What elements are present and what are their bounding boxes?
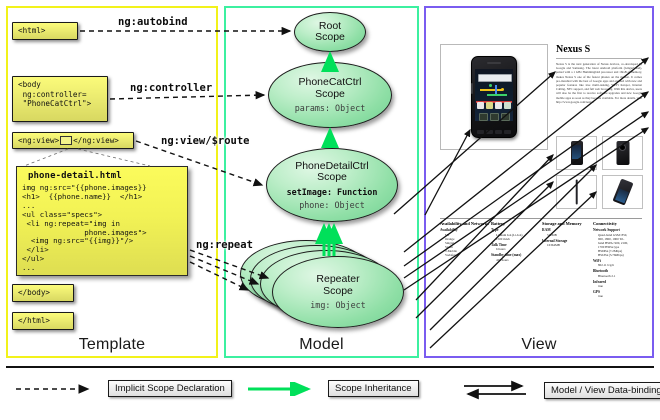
spec-value-wifi: 802.11 b/g/n — [598, 263, 642, 267]
spec-column-availability: Availability and Networks Availability M… — [440, 221, 489, 307]
hero-phone-image — [440, 44, 548, 150]
view-rendered-page: Nexus S Nexus S is the next generation o… — [434, 16, 646, 334]
tag-body-open-text: <body ng:controller= "PhoneCatCtrl"> — [18, 80, 91, 108]
tag-html-open: <html> — [12, 22, 78, 40]
scope-repeater-title-1: Repeater — [316, 274, 359, 286]
view-title-rule — [556, 58, 642, 59]
legend-green-arrow-icon — [246, 382, 320, 396]
note-code: img ng:src="{{phone.images}} <h1> {{phon… — [22, 184, 183, 273]
phone-app-icon-4 — [504, 102, 511, 109]
legend-divider — [6, 366, 654, 368]
diagram-canvas: <html> <body ng:controller= "PhoneCatCtr… — [0, 0, 660, 420]
spec-heading-availability: Availability and Networks — [440, 221, 489, 226]
phone-nav-button-1 — [477, 130, 484, 134]
ngview-slot-icon — [60, 136, 72, 145]
legend-item-implicit: Implicit Scope Declaration — [14, 380, 232, 397]
thumbnail-front-image — [571, 141, 583, 165]
label-ng-controller: ng:controller — [130, 82, 212, 94]
tag-body-open: <body ng:controller= "PhoneCatCtrl"> — [12, 76, 108, 122]
spec-value-bluetooth: Bluetooth 2.1 — [598, 274, 642, 278]
label-ng-autobind: ng:autobind — [118, 16, 188, 28]
label-ng-repeat: ng:repeat — [196, 239, 253, 251]
thumbnail-front[interactable] — [556, 136, 597, 170]
scope-repeater: Repeater Scope img: Object — [272, 256, 404, 328]
phone-app-icon-2 — [486, 102, 493, 109]
phone-dock-item-2 — [490, 113, 499, 121]
view-spec-table: Availability and Networks Availability M… — [440, 218, 642, 307]
spec-value-network-6: HSUPA (5.76Mbps) — [598, 253, 642, 257]
tag-html-close-text: </html> — [18, 316, 50, 326]
spec-value-ram: 512MB — [547, 233, 591, 237]
thumbnail-back[interactable] — [602, 136, 643, 170]
spec-value-gps: true — [598, 294, 642, 298]
phone-app-icon-3 — [495, 102, 502, 109]
spec-heading-battery: Battery — [491, 221, 540, 226]
scope-repeater-prop-img: img: Object — [310, 300, 365, 310]
spec-heading-connectivity: Connectivity — [593, 221, 642, 226]
phone-app-icon-1 — [477, 102, 484, 109]
note-phone-detail-html: phone-detail.html img ng:src="{{phone.im… — [16, 166, 188, 276]
spec-value-battery-talktime: 6 hours — [496, 247, 540, 251]
view-product-description: Nexus S is the next generation of Nexus … — [556, 62, 642, 132]
scope-phonedetailctrl-title-2: Scope — [317, 172, 347, 184]
thumbnail-angled-image — [612, 178, 633, 205]
scope-phonecatctrl-title-2: Scope — [315, 89, 345, 101]
thumbnail-back-image — [616, 141, 629, 165]
view-thumbnail-grid — [556, 136, 644, 208]
thumbnail-edge[interactable] — [556, 175, 597, 209]
spec-column-battery: Battery Type Lithium Ion (Li-Ion) 1500 m… — [491, 221, 540, 307]
phone-screen-line-2 — [495, 85, 497, 94]
scope-repeater-title-2: Scope — [323, 286, 353, 298]
phone-dock — [477, 113, 511, 120]
label-ng-view-route: ng:view/$route — [161, 135, 250, 147]
scope-phonecatctrl-title-1: PhoneCatCtrl — [298, 77, 361, 89]
legend-label-databinding: Model / View Data-binding — [544, 382, 660, 399]
phone-side-button — [471, 83, 473, 94]
tag-html-open-text: <html> — [18, 26, 45, 36]
legend-item-databinding: Model / View Data-binding — [462, 380, 660, 400]
scope-phonedetailctrl-prop-phone: phone: Object — [299, 200, 365, 210]
phone-nav-button-4 — [504, 130, 511, 134]
thumbnail-angled[interactable] — [602, 175, 643, 209]
legend-double-arrow-icon — [462, 380, 536, 400]
scope-root-title-2: Scope — [315, 32, 345, 44]
tag-html-close: </html> — [12, 312, 74, 330]
tag-body-close-text: </body> — [18, 288, 50, 298]
view-product-title: Nexus S — [556, 44, 642, 55]
phone-nav-button-3 — [495, 130, 502, 134]
scope-phonecatctrl: PhoneCatCtrl Scope params: Object — [268, 62, 392, 128]
spec-column-storage: Storage and Memory RAM 512MB Internal St… — [542, 221, 591, 307]
phone-screen-line-3 — [487, 94, 507, 96]
scope-root: Root Scope — [294, 12, 366, 52]
scope-phonedetailctrl-prop-setimage: setImage: Function — [287, 187, 378, 197]
tag-ngview-open-text: <ng:view> — [18, 136, 59, 146]
scope-phonedetailctrl: PhoneDetailCtrl Scope setImage: Function… — [266, 148, 398, 222]
legend-label-implicit: Implicit Scope Declaration — [108, 380, 232, 397]
spec-heading-storage: Storage and Memory — [542, 221, 591, 226]
spec-value-battery-type-2: 1500 mAh — [496, 237, 540, 241]
phone-illustration — [471, 56, 517, 138]
phone-earpiece — [487, 62, 501, 64]
legend-label-inheritance: Scope Inheritance — [328, 380, 419, 397]
spec-value-internal-storage: 16364MB — [547, 243, 591, 247]
phone-screen-line-1 — [480, 89, 502, 91]
thumbnail-edge-image — [575, 180, 578, 205]
spec-column-connectivity: Connectivity Network Support Quad-band G… — [593, 221, 642, 307]
spec-value-battery-standby: 428 hours — [496, 258, 540, 262]
phone-search-widget — [478, 74, 512, 82]
spec-value-infrared: true — [598, 284, 642, 288]
phone-screen — [475, 69, 513, 121]
note-filename: phone-detail.html — [28, 171, 183, 181]
phone-nav-button-2 — [486, 130, 493, 134]
phone-screen-dot-1 — [489, 84, 492, 87]
tag-body-close: </body> — [12, 284, 74, 302]
scope-phonecatctrl-prop-params: params: Object — [295, 103, 366, 113]
spec-value-availability-6: Vodafone — [445, 253, 489, 257]
phone-dock-item-1 — [479, 113, 488, 121]
tag-ngview: <ng:view></ng:view> — [12, 132, 134, 149]
legend-dashed-arrow-icon — [14, 382, 100, 396]
phone-dock-item-3 — [501, 113, 510, 121]
phone-screen-dot-2 — [501, 88, 504, 91]
phone-app-icons — [477, 102, 511, 112]
tag-ngview-close-text: </ng:view> — [73, 136, 119, 146]
phone-nav-buttons — [475, 128, 513, 135]
legend: Implicit Scope Declaration Scope Inherit… — [0, 374, 660, 416]
legend-item-inheritance: Scope Inheritance — [246, 380, 419, 397]
